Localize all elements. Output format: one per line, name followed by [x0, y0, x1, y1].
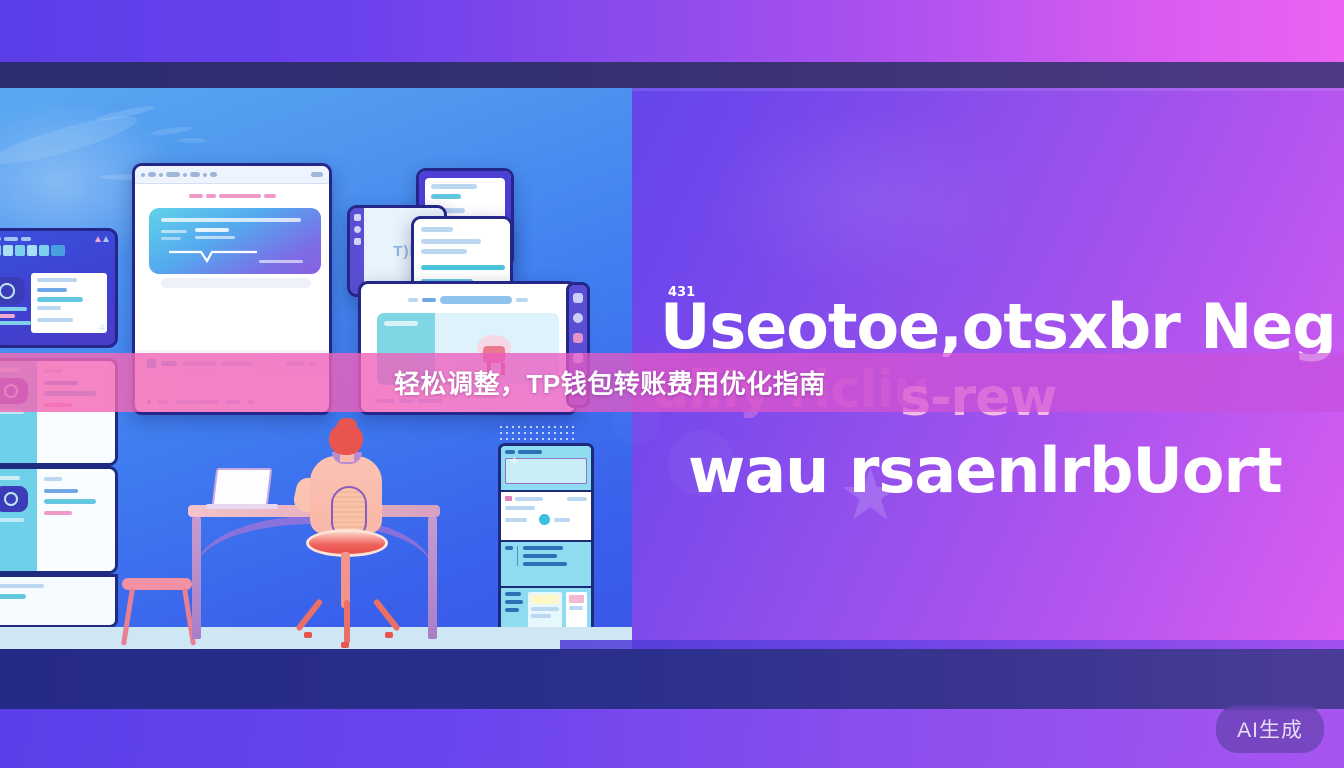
left-dark-info-card[interactable]: ⚘	[0, 228, 118, 348]
server-rack-panel[interactable]	[498, 443, 594, 643]
person-hair	[337, 418, 357, 432]
laptop-screen[interactable]	[212, 468, 273, 506]
desk-leg-left	[192, 517, 201, 639]
laptop-base	[206, 504, 278, 509]
left-cyan-card-bottom[interactable]	[0, 466, 118, 574]
traffic-dot	[203, 173, 207, 177]
floor-dark-band	[0, 649, 1344, 710]
titlebar-chip	[210, 172, 217, 177]
titlebar-chip	[166, 172, 180, 177]
card-emblem: ⚘	[97, 322, 107, 335]
mini-chart-line	[149, 208, 321, 274]
window-sidebar[interactable]	[350, 208, 364, 294]
content-heading-lines	[149, 194, 315, 198]
wall-swoosh-4	[178, 138, 206, 143]
ai-generated-badge[interactable]: AI生成	[1216, 705, 1324, 753]
tab-chips[interactable]	[0, 245, 115, 261]
bg-text-line-3: wau rsaenlrbUort	[688, 434, 1282, 507]
desk-leg-right	[428, 517, 437, 639]
browser-content	[135, 184, 329, 298]
chair-caster	[385, 632, 393, 638]
avatar-badge	[0, 277, 25, 305]
hero-banner-image: T)I	[0, 0, 1344, 768]
window-controls[interactable]	[311, 172, 323, 177]
card-shadow	[161, 278, 311, 288]
titlebar-chip	[190, 172, 200, 177]
chair-caster	[341, 642, 349, 648]
traffic-dot	[141, 173, 145, 177]
titlebar-chip	[148, 172, 156, 177]
hero-gradient-card	[149, 208, 321, 274]
background-top-band	[0, 0, 1344, 64]
banner-title-text: 轻松调整，TP钱包转账费用优化指南	[394, 364, 826, 401]
browser-titlebar	[135, 166, 329, 184]
background-dark-stripe	[0, 62, 1344, 88]
sparkle-icon: ✦	[508, 452, 521, 470]
traffic-dot	[159, 173, 163, 177]
baseboard	[0, 627, 632, 649]
dot-pattern-decor	[498, 424, 574, 444]
chair-caster	[304, 632, 312, 638]
floor-light-band	[0, 709, 1344, 768]
wall-highlight	[700, 108, 1030, 288]
traffic-dot	[183, 173, 187, 177]
chair-leg	[344, 600, 350, 644]
left-bottom-strip	[0, 574, 118, 628]
title-banner: 轻松调整，TP钱包转账费用优化指南	[0, 353, 1344, 412]
